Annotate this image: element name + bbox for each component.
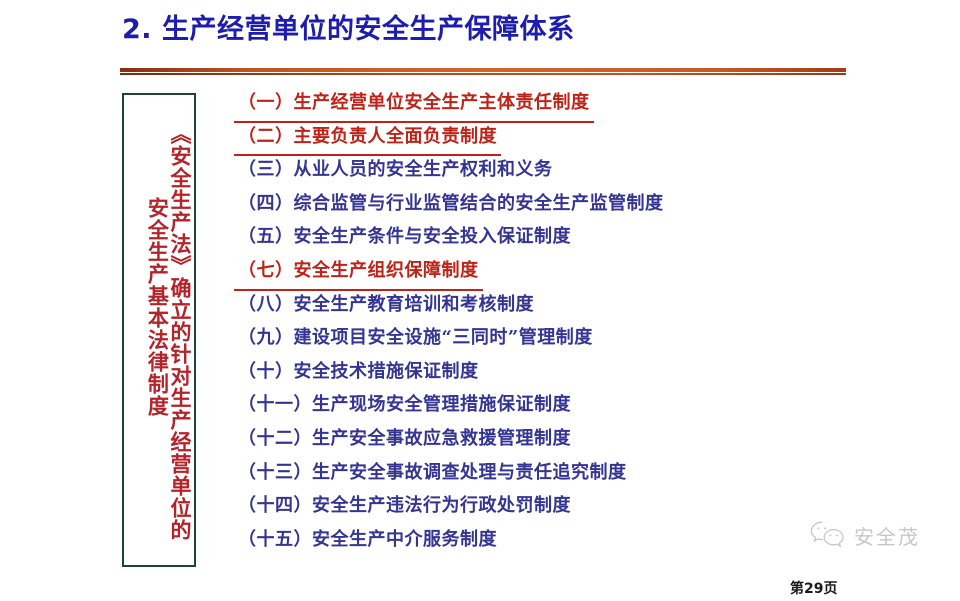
list-item: （十一）生产现场安全管理措施保证制度 [234,388,894,422]
list-item: （一）生产经营单位安全生产主体责任制度 [234,86,894,120]
vertical-caption-line-right: 《安全生产法》确立的针对生产经营单位的 [168,101,191,541]
vertical-caption-line-left: 安全生产基本法律制度 [146,101,169,417]
list-item: （七）安全生产组织保障制度 [234,254,894,288]
list-item: （十五）安全生产中介服务制度 [234,523,894,557]
list-item: （三）从业人员的安全生产权利和义务 [234,153,894,187]
list-item-label: （十五）安全生产中介服务制度 [234,523,501,557]
wechat-icon [808,518,848,552]
list-item-label: （十一）生产现场安全管理措施保证制度 [234,388,575,422]
list-item-label: （十二）生产安全事故应急救援管理制度 [234,422,575,456]
list-item-label: （十）安全技术措施保证制度 [234,355,483,389]
slide-canvas: 2. 生产经营单位的安全生产保障体系 《安全生产法》确立的针对生产经营单位的 安… [0,0,960,601]
divider-bar-upper [120,68,846,72]
list-item-label: （一）生产经营单位安全生产主体责任制度 [234,86,594,123]
list-item-label: （十三）生产安全事故调查处理与责任追究制度 [234,456,631,490]
list-item: （四）综合监管与行业监管结合的安全生产监管制度 [234,187,894,221]
divider-bar-lower [120,73,846,75]
institution-list: （一）生产经营单位安全生产主体责任制度 （二）主要负责人全面负责制度 （三）从业… [234,86,894,556]
list-item: （十四）安全生产违法行为行政处罚制度 [234,489,894,523]
title-divider [120,68,846,75]
list-item-label: （九）建设项目安全设施“三同时”管理制度 [234,321,597,355]
list-item-label: （三）从业人员的安全生产权利和义务 [234,153,557,187]
list-item-label: （五）安全生产条件与安全投入保证制度 [234,220,575,254]
list-item: （八）安全生产教育培训和考核制度 [234,288,894,322]
page-number: 第29页 [786,578,960,601]
list-item-label: （八）安全生产教育培训和考核制度 [234,288,538,322]
list-item: （二）主要负责人全面负责制度 [234,120,894,154]
vertical-caption-inner: 《安全生产法》确立的针对生产经营单位的 安全生产基本法律制度 [124,95,194,565]
list-item: （五）安全生产条件与安全投入保证制度 [234,220,894,254]
watermark: 安全茂 [808,518,920,552]
list-item: （十三）生产安全事故调查处理与责任追究制度 [234,456,894,490]
vertical-caption-box: 《安全生产法》确立的针对生产经营单位的 安全生产基本法律制度 [122,93,196,567]
list-item: （十）安全技术措施保证制度 [234,355,894,389]
list-item-label: （二）主要负责人全面负责制度 [234,120,501,157]
list-item-label: （七）安全生产组织保障制度 [234,254,483,291]
list-item: （十二）生产安全事故应急救援管理制度 [234,422,894,456]
page-title: 2. 生产经营单位的安全生产保障体系 [122,10,574,50]
list-item-label: （十四）安全生产违法行为行政处罚制度 [234,489,575,523]
watermark-label: 安全茂 [854,521,920,550]
list-item-label: （四）综合监管与行业监管结合的安全生产监管制度 [234,187,668,221]
list-item: （九）建设项目安全设施“三同时”管理制度 [234,321,894,355]
